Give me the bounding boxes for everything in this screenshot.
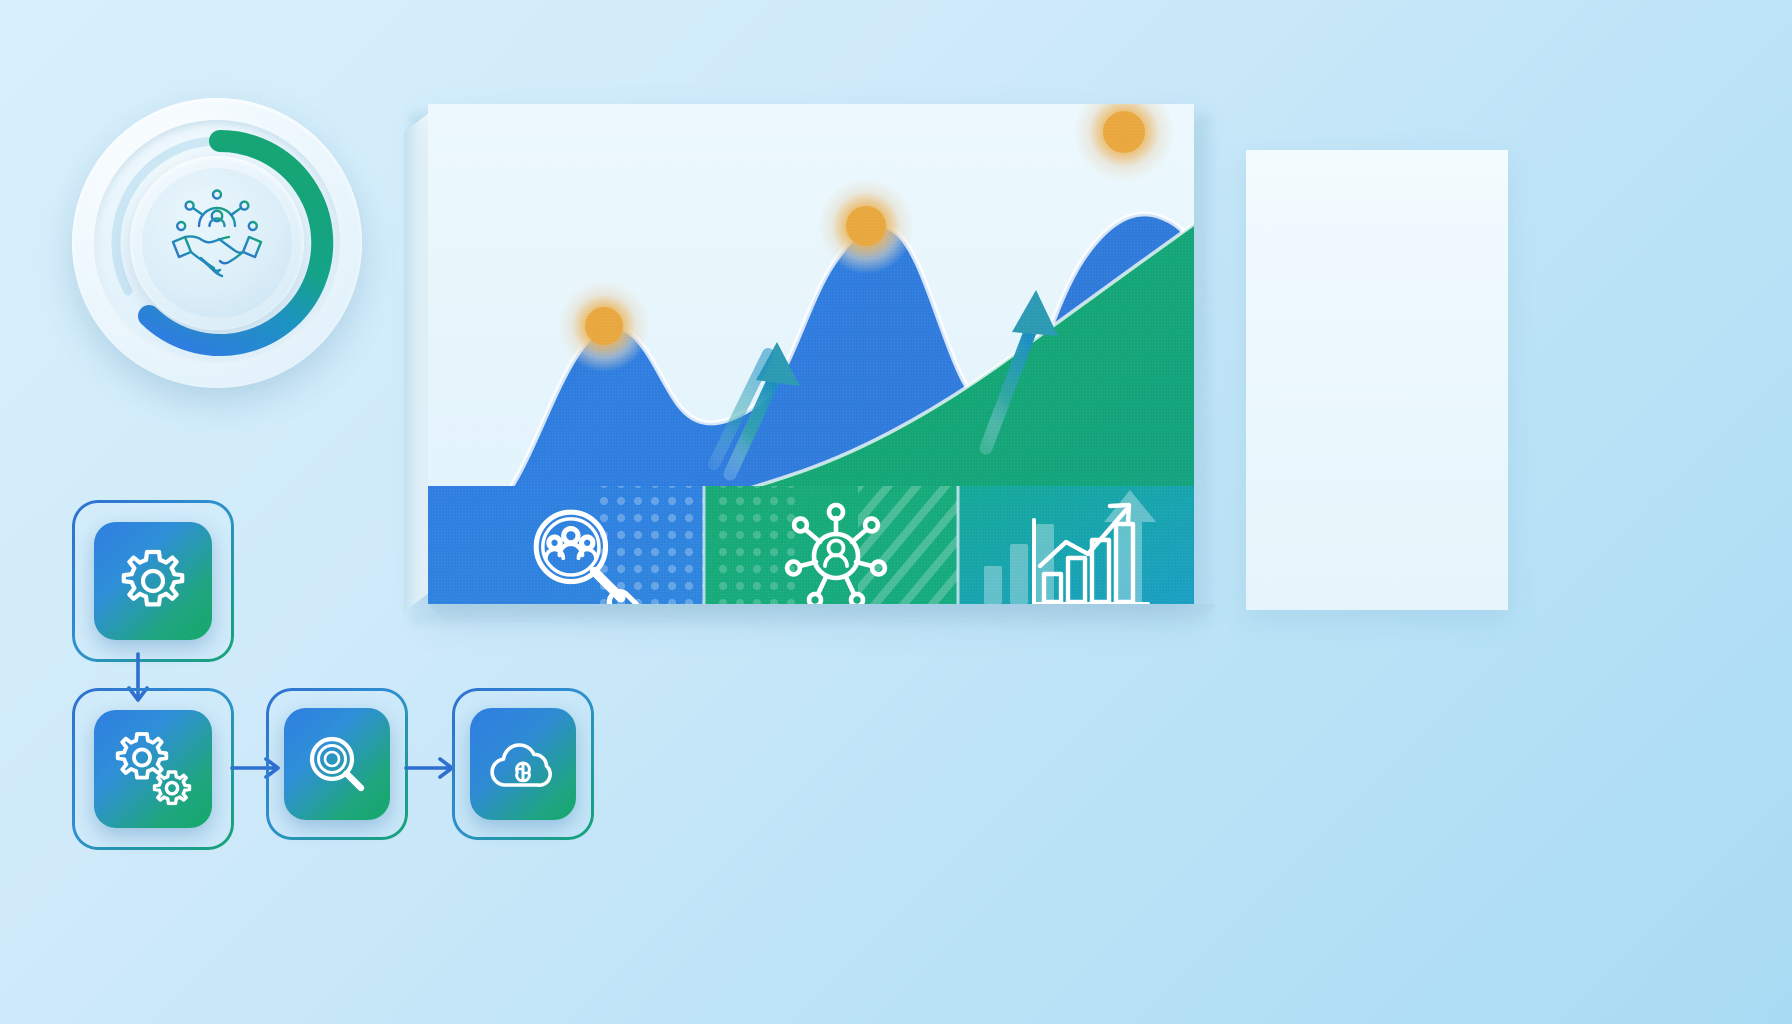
flow-node-ai-cloud[interactable] xyxy=(452,688,594,840)
flow-node-analyze[interactable] xyxy=(266,688,408,840)
main-growth-chart-panel[interactable] xyxy=(382,104,1212,624)
infographic-canvas xyxy=(0,0,1792,1024)
tile-face xyxy=(284,708,390,820)
panel-left-3d-edge xyxy=(404,112,430,612)
ring-inner-plate xyxy=(130,156,304,330)
flow-node-automate[interactable] xyxy=(72,688,234,850)
gear-icon xyxy=(116,544,190,618)
peak-marker-2[interactable] xyxy=(818,178,914,274)
flow-node-configure[interactable] xyxy=(72,500,234,662)
kpi-progress-ring[interactable] xyxy=(72,98,362,388)
panel-bottom-3d-edge xyxy=(428,604,1218,622)
double-gear-icon xyxy=(112,730,194,808)
peak-marker-1[interactable] xyxy=(558,280,650,372)
tile-face xyxy=(94,710,212,828)
cloud-brain-icon xyxy=(487,733,559,795)
handshake-network-icon xyxy=(155,184,279,302)
tile-face xyxy=(470,708,576,820)
bar-panel-background xyxy=(1246,150,1508,610)
tile-face xyxy=(94,522,212,640)
peak-marker-3[interactable] xyxy=(1074,104,1174,182)
growth-bars-panel[interactable] xyxy=(1246,150,1508,610)
magnifier-icon xyxy=(303,730,371,798)
chart-plot-area xyxy=(428,104,1194,604)
growth-area-chart xyxy=(428,104,1194,604)
ring-icon-face xyxy=(142,168,292,318)
